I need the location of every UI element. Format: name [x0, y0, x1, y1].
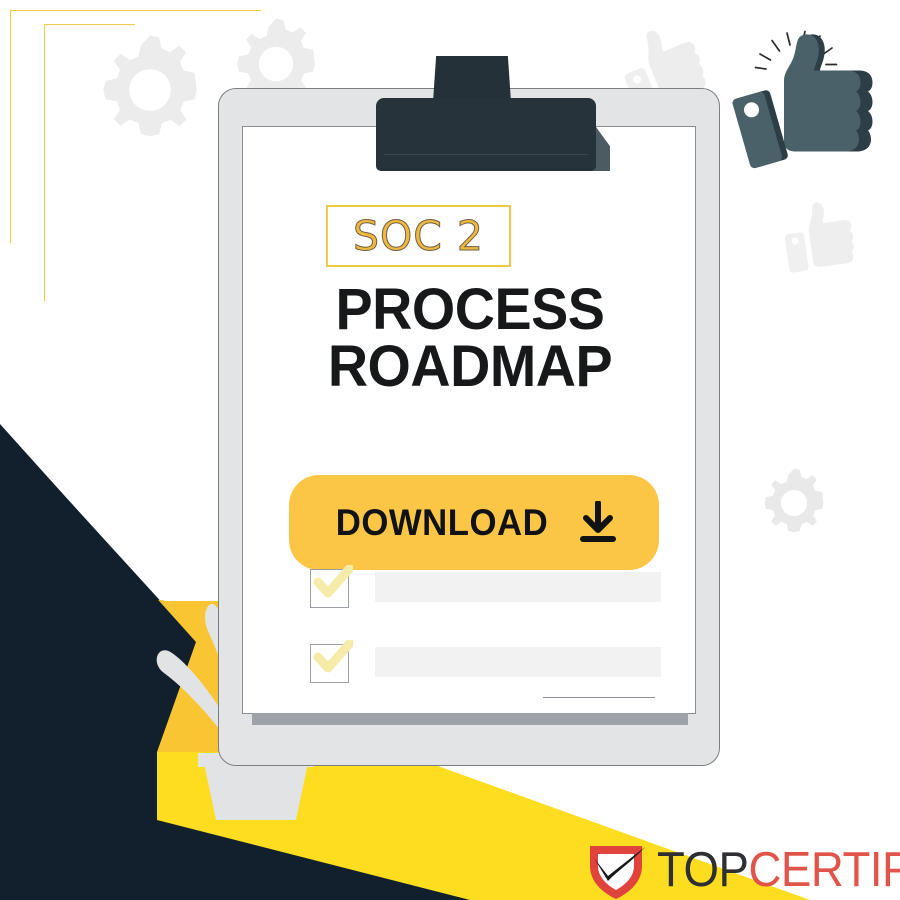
download-button[interactable]: DOWNLOAD: [289, 475, 659, 570]
clipboard-clip-stem: [433, 56, 511, 102]
logo-word-top: TOP: [657, 843, 748, 897]
clipboard: SOC 2 PROCESS ROADMAP DOWNLOAD: [218, 88, 720, 766]
clipboard-paper: SOC 2 PROCESS ROADMAP DOWNLOAD: [242, 126, 696, 714]
clipboard-clip: [376, 98, 596, 171]
page-title-line1: PROCESS: [252, 282, 688, 339]
gear-right-middle: [753, 462, 835, 544]
poster-canvas: SOC 2 PROCESS ROADMAP DOWNLOAD: [0, 0, 900, 900]
logo-word-certifier: CERTIFIER: [748, 843, 900, 897]
checklist-text-bar-1: [375, 572, 661, 602]
clipboard-clip-line: [384, 154, 588, 155]
shield-check-icon: [585, 840, 647, 900]
thumbs-up-faded-right: [774, 188, 873, 287]
clipboard-paper-shadow: [252, 713, 688, 725]
thumbs-up-primary: [730, 30, 880, 180]
logo-wordmark: TOPCERTIFIER: [657, 846, 900, 895]
plant-pot: [204, 763, 308, 820]
topcertifier-logo[interactable]: TOPCERTIFIER: [585, 840, 900, 900]
gear-top-left-large: [85, 25, 215, 155]
checklist-text-bar-2: [375, 647, 661, 677]
check-icon-1: [313, 565, 353, 605]
page-title-line2: ROADMAP: [252, 339, 688, 396]
check-icon-2: [313, 640, 353, 680]
signature-rule-right-top: [543, 697, 655, 698]
soc2-badge-label: SOC 2: [353, 216, 484, 257]
download-button-label: DOWNLOAD: [336, 502, 548, 544]
page-title: PROCESS ROADMAP: [252, 282, 688, 396]
soc2-badge: SOC 2: [326, 205, 511, 267]
download-arrow-icon: [577, 501, 619, 545]
